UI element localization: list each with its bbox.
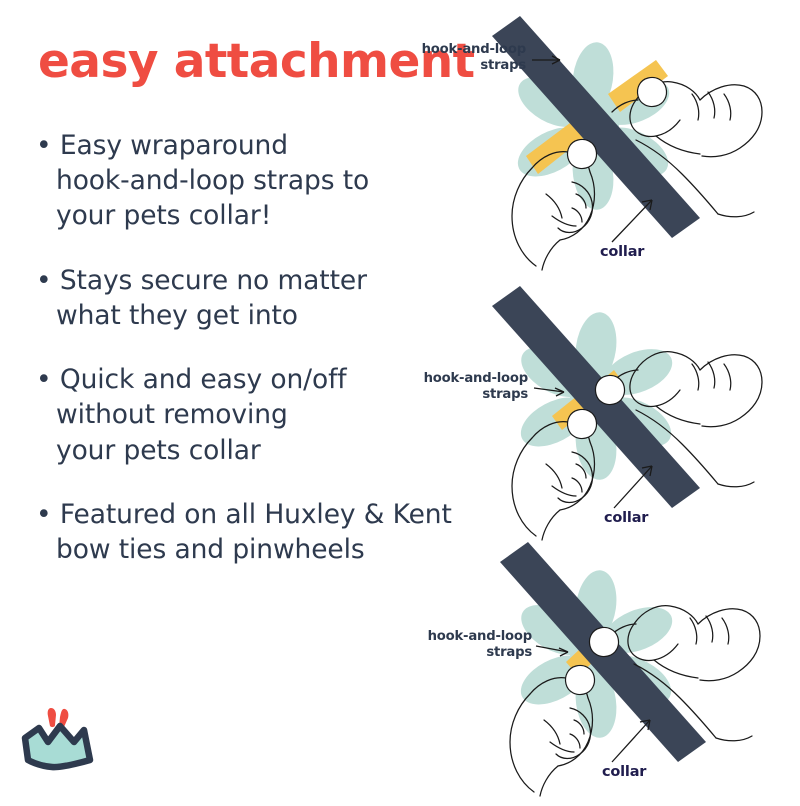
- crown-logo: [18, 698, 102, 778]
- crown-shape-icon: [25, 726, 90, 767]
- bullet-line: your pets collar: [56, 435, 261, 466]
- label-hook-and-loop-straps-line2: straps: [480, 58, 526, 73]
- label-hook-and-loop-straps-line2: straps: [486, 645, 532, 660]
- bullet-line: without removing: [56, 399, 288, 430]
- bullet-line: • Featured on all Huxley & Kent: [36, 499, 452, 530]
- label-hook-and-loop-straps-line1: hook-and-loop: [428, 629, 532, 644]
- arrow-to-collar-icon: [612, 720, 650, 762]
- label-collar: collar: [600, 244, 645, 260]
- bullet-line: • Stays secure no matter: [36, 265, 367, 296]
- label-collar: collar: [604, 510, 649, 526]
- bullet-line: • Easy wraparound: [36, 130, 288, 161]
- arrow-to-collar-icon: [614, 466, 652, 508]
- illustration-panel-step-3: hook-and-loop straps collar: [400, 536, 800, 806]
- infographic-page: easy attachment • Easy wraparound hook-a…: [0, 0, 800, 800]
- bullet-line: your pets collar!: [56, 200, 271, 231]
- bullet-line: • Quick and easy on/off: [36, 364, 347, 395]
- arrow-to-collar-icon: [612, 200, 652, 242]
- bullet-line: hook-and-loop straps to: [56, 165, 369, 196]
- label-hook-and-loop-straps-line1: hook-and-loop: [422, 42, 526, 57]
- label-hook-and-loop-straps-line2: straps: [482, 387, 528, 402]
- illustration-panel-step-1: hook-and-loop straps collar: [400, 8, 800, 278]
- label-collar: collar: [602, 764, 647, 780]
- illustration-panel-step-2: hook-and-loop straps collar: [400, 276, 800, 546]
- bullet-line: bow ties and pinwheels: [56, 534, 365, 565]
- label-hook-and-loop-straps-line1: hook-and-loop: [424, 371, 528, 386]
- bullet-line: what they get into: [56, 300, 298, 331]
